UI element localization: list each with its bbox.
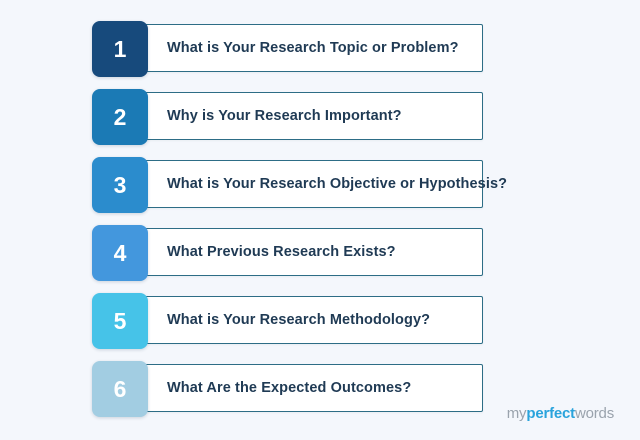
list-item[interactable]: What is Your Research Methodology? 5 [0, 293, 640, 349]
list-item[interactable]: What Previous Research Exists? 4 [0, 225, 640, 281]
step-card: What is Your Research Methodology? [140, 296, 483, 344]
step-badge: 1 [92, 21, 148, 77]
step-label: What is Your Research Objective or Hypot… [167, 161, 507, 207]
step-card: What Previous Research Exists? [140, 228, 483, 276]
step-number: 6 [92, 361, 148, 417]
research-steps-list: What is Your Research Topic or Problem? … [0, 21, 640, 429]
list-item[interactable]: What is Your Research Objective or Hypot… [0, 157, 640, 213]
step-card: Why is Your Research Important? [140, 92, 483, 140]
step-label: What Are the Expected Outcomes? [167, 365, 411, 411]
step-number: 2 [92, 89, 148, 145]
step-badge: 6 [92, 361, 148, 417]
step-label: What is Your Research Methodology? [167, 297, 430, 343]
step-card: What Are the Expected Outcomes? [140, 364, 483, 412]
step-badge: 2 [92, 89, 148, 145]
brand-logo-part-one: my [507, 405, 527, 422]
step-label: What Previous Research Exists? [167, 229, 396, 275]
step-card: What is Your Research Objective or Hypot… [140, 160, 483, 208]
step-label: Why is Your Research Important? [167, 93, 402, 139]
list-item[interactable]: What is Your Research Topic or Problem? … [0, 21, 640, 77]
step-number: 5 [92, 293, 148, 349]
step-number: 3 [92, 157, 148, 213]
brand-logo-part-three: words [575, 405, 614, 422]
step-badge: 3 [92, 157, 148, 213]
list-item[interactable]: Why is Your Research Important? 2 [0, 89, 640, 145]
step-number: 1 [92, 21, 148, 77]
step-card: What is Your Research Topic or Problem? [140, 24, 483, 72]
step-label: What is Your Research Topic or Problem? [167, 25, 459, 71]
infographic-canvas: What is Your Research Topic or Problem? … [0, 0, 640, 440]
step-number: 4 [92, 225, 148, 281]
brand-logo-part-two: perfect [526, 405, 575, 422]
step-badge: 4 [92, 225, 148, 281]
brand-logo: myperfectwords [507, 405, 614, 422]
step-badge: 5 [92, 293, 148, 349]
